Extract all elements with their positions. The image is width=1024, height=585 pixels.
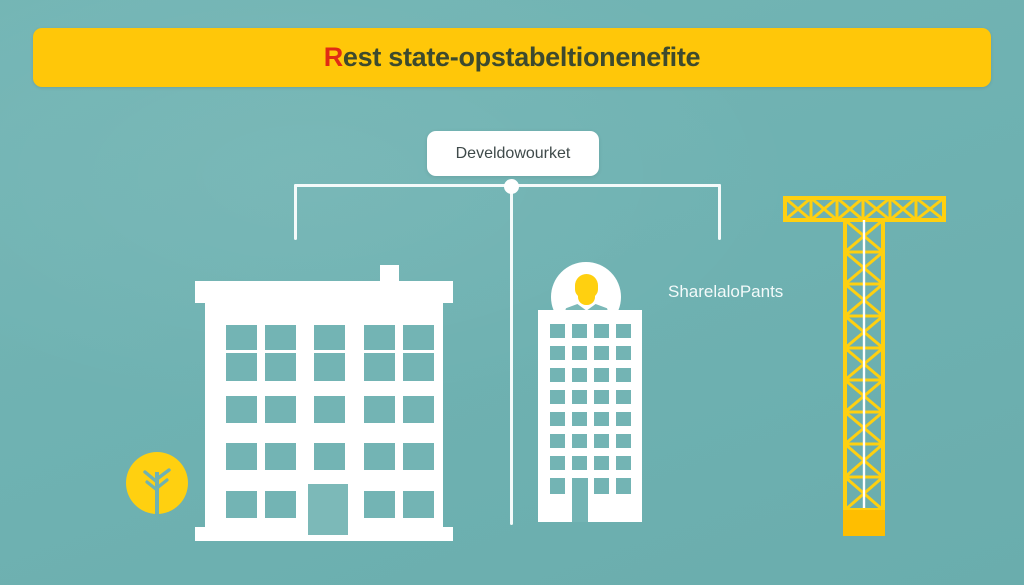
building-window xyxy=(226,325,257,350)
title-initial-letter: R xyxy=(324,42,343,72)
crane-base-block xyxy=(843,510,885,536)
building-roof-slab xyxy=(195,281,453,303)
office-building xyxy=(195,265,461,555)
tower-window xyxy=(594,346,609,360)
side-label: SharelaloPants xyxy=(668,282,783,302)
building-window xyxy=(314,353,345,381)
building-window xyxy=(314,396,345,423)
tower-window xyxy=(594,434,609,448)
building-window xyxy=(265,491,296,518)
tower-window xyxy=(550,456,565,470)
building-window xyxy=(364,491,395,518)
tower-window xyxy=(594,412,609,426)
connector-branch-left xyxy=(294,184,297,240)
tower-window xyxy=(594,324,609,338)
tower-window xyxy=(550,368,565,382)
building-window xyxy=(403,491,434,518)
building-window xyxy=(314,325,345,350)
tower-window xyxy=(594,456,609,470)
connector-branch-center xyxy=(510,186,513,525)
tower-window xyxy=(572,346,587,360)
tower-window xyxy=(616,434,631,448)
building-window xyxy=(265,325,296,350)
tree-icon xyxy=(126,452,188,514)
building-window xyxy=(226,443,257,470)
tower-window xyxy=(550,346,565,360)
building-window xyxy=(314,443,345,470)
tower-window xyxy=(616,390,631,404)
building-window xyxy=(265,353,296,381)
building-window xyxy=(265,443,296,470)
tower-window xyxy=(550,478,565,494)
tower-window xyxy=(616,456,631,470)
tower-window xyxy=(572,368,587,382)
tower-window xyxy=(550,390,565,404)
apartment-tower xyxy=(538,262,642,530)
connector-branch-right xyxy=(718,184,721,240)
tower-window xyxy=(616,412,631,426)
building-window xyxy=(364,325,395,350)
building-window xyxy=(403,353,434,381)
building-window xyxy=(265,396,296,423)
tower-window xyxy=(572,390,587,404)
building-window xyxy=(403,325,434,350)
building-window xyxy=(364,353,395,381)
tower-window xyxy=(616,346,631,360)
tower-door xyxy=(572,478,588,522)
tower-window xyxy=(594,478,609,494)
building-window xyxy=(226,353,257,381)
tower-window xyxy=(616,478,631,494)
tower-window xyxy=(572,324,587,338)
tower-window xyxy=(594,368,609,382)
tower-window xyxy=(572,412,587,426)
tower-window xyxy=(572,434,587,448)
tower-window xyxy=(616,368,631,382)
building-window xyxy=(226,396,257,423)
building-window xyxy=(364,443,395,470)
infographic-canvas: Rest state-opstabeltionenefite Develdowo… xyxy=(0,0,1024,585)
tower-crane xyxy=(783,196,946,538)
tower-window xyxy=(550,324,565,338)
building-window xyxy=(403,396,434,423)
tower-window xyxy=(550,434,565,448)
page-title: Rest state-opstabeltionenefite xyxy=(324,42,701,73)
root-node-label-text: Develdowourket xyxy=(456,145,571,163)
building-window xyxy=(403,443,434,470)
tower-window xyxy=(594,390,609,404)
root-node-label[interactable]: Develdowourket xyxy=(427,131,599,176)
hard-hat-icon xyxy=(575,274,598,298)
building-door xyxy=(308,484,348,535)
tower-window xyxy=(550,412,565,426)
tower-window xyxy=(616,324,631,338)
title-banner: Rest state-opstabeltionenefite xyxy=(33,28,991,87)
title-rest-text: est state-opstabeltionenefite xyxy=(343,42,700,72)
tree-badge xyxy=(126,452,188,514)
tower-window xyxy=(572,456,587,470)
building-window xyxy=(226,491,257,518)
connector-node-marker xyxy=(504,179,519,194)
building-window xyxy=(364,396,395,423)
